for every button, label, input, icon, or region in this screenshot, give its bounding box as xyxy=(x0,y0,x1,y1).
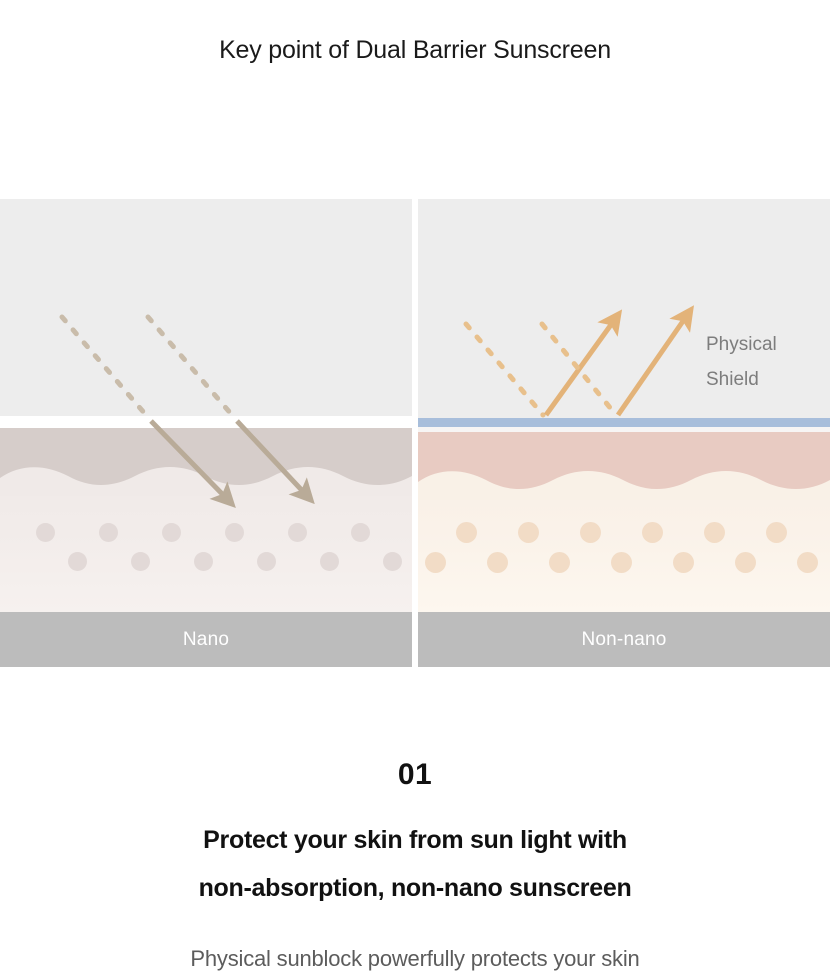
nano-cell-dot xyxy=(383,552,402,571)
nano-cell-dot xyxy=(194,552,213,571)
headline-line-2: non-absorption, non-nano sunscreen xyxy=(0,864,830,912)
panel-divider xyxy=(412,199,418,667)
nonnano-cell-dot xyxy=(766,522,787,543)
nano-cell-dot xyxy=(225,523,244,542)
subcopy-line-1: Physical sunblock powerfully protects yo… xyxy=(190,946,639,971)
nano-cell-dot xyxy=(99,523,118,542)
nonnano-cell-dot xyxy=(580,522,601,543)
nano-cell-dot xyxy=(68,552,87,571)
nonnano-cell-dot xyxy=(425,552,446,573)
nano-cell-dot xyxy=(162,523,181,542)
shield-caption-line-1: Physical xyxy=(706,327,826,362)
nonnano-cell-dot xyxy=(797,552,818,573)
nonnano-cell-dot xyxy=(518,522,539,543)
nonnano-dermis-wave-boundary xyxy=(418,460,830,500)
nonnano-cell-dot xyxy=(611,552,632,573)
nonnano-cell-dot xyxy=(642,522,663,543)
headline-line-1: Protect your skin from sun light with xyxy=(0,816,830,864)
nano-air-zone xyxy=(0,199,412,416)
feature-headline: Protect your skin from sun light with no… xyxy=(0,816,830,912)
shield-caption-line-2: Shield xyxy=(706,362,826,397)
nonnano-skin-cross-section xyxy=(418,432,830,612)
panel-nano: Nano xyxy=(0,199,412,667)
nano-cell-dot xyxy=(288,523,307,542)
page-title: Key point of Dual Barrier Sunscreen xyxy=(0,36,830,65)
nano-cell-dot xyxy=(131,552,150,571)
panel-non-nano: Physical Shield Non-nano xyxy=(418,199,830,667)
physical-shield-caption: Physical Shield xyxy=(706,327,826,397)
step-number: 01 xyxy=(0,758,830,792)
comparison-diagram: Nano xyxy=(0,199,830,667)
panel-label-nano: Nano xyxy=(0,612,412,667)
panel-label-non-nano: Non-nano xyxy=(418,612,830,667)
nonnano-cell-dot xyxy=(487,552,508,573)
nonnano-cell-dot xyxy=(456,522,477,543)
nano-cell-dot xyxy=(351,523,370,542)
nonnano-cell-dot xyxy=(704,522,725,543)
nano-cell-dot xyxy=(257,552,276,571)
nano-skin-cross-section xyxy=(0,428,412,612)
nano-cell-dot xyxy=(320,552,339,571)
product-feature-page: Key point of Dual Barrier Sunscreen xyxy=(0,0,830,978)
nonnano-cell-dot xyxy=(549,552,570,573)
feature-subcopy: Physical sunblock powerfully protects yo… xyxy=(0,942,830,976)
nano-surface-gap xyxy=(0,416,412,428)
physical-shield-barrier xyxy=(418,418,830,427)
nonnano-cell-dot xyxy=(673,552,694,573)
nano-dermis-wave-boundary xyxy=(0,456,412,496)
nano-cell-dot xyxy=(36,523,55,542)
nonnano-cell-dot xyxy=(735,552,756,573)
